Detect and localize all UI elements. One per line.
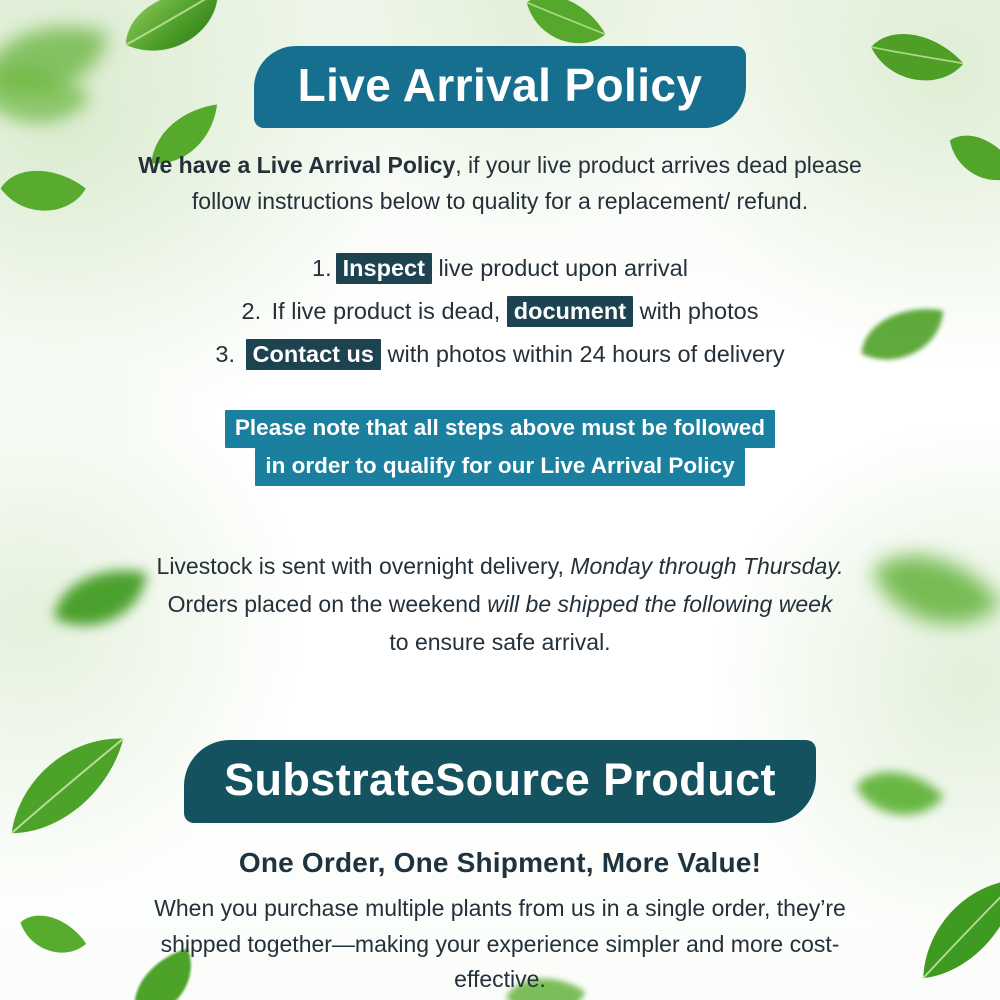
policy-steps-list: 1.Inspect live product upon arrival 2. I… [0, 247, 1000, 375]
step-highlight-inspect: Inspect [336, 253, 432, 284]
policy-intro-text: We have a Live Arrival Policy, if your l… [0, 148, 1000, 219]
policy-banner-row: Live Arrival Policy [0, 46, 1000, 128]
shipping-schedule-text: Livestock is sent with overnight deliver… [0, 548, 1000, 662]
step-number: 1. [312, 255, 332, 281]
step-highlight-document: document [507, 296, 633, 327]
step-text-before [239, 341, 246, 367]
step-text-after: live product upon arrival [432, 255, 688, 281]
shipping-line2-emphasis: will be shipped the following week [487, 591, 832, 617]
product-banner-row: SubstrateSource Product [0, 740, 1000, 823]
shipping-line1-emphasis: Monday through Thursday. [570, 553, 843, 579]
step-text-after: with photos [633, 298, 758, 324]
policy-note-line-2: in order to qualify for our Live Arrival… [255, 448, 744, 486]
content-root: Live Arrival Policy We have a Live Arriv… [0, 0, 1000, 1000]
step-text-before: If live product is dead, [265, 298, 507, 324]
shipping-line2-plain: Orders placed on the weekend [168, 591, 488, 617]
policy-step-3: 3. Contact us with photos within 24 hour… [0, 333, 1000, 376]
promo-infographic: Live Arrival Policy We have a Live Arriv… [0, 0, 1000, 1000]
substratesource-product-section: SubstrateSource Product One Order, One S… [0, 740, 1000, 998]
product-subheading: One Order, One Shipment, More Value! [0, 847, 1000, 879]
policy-note-block: Please note that all steps above must be… [0, 410, 1000, 487]
shipping-line1-plain: Livestock is sent with overnight deliver… [157, 553, 571, 579]
live-arrival-policy-banner: Live Arrival Policy [254, 46, 747, 128]
policy-note-line-1: Please note that all steps above must be… [225, 410, 775, 448]
shipping-line3: to ensure safe arrival. [389, 629, 610, 655]
step-text-after: with photos within 24 hours of delivery [381, 341, 785, 367]
substratesource-product-banner: SubstrateSource Product [184, 740, 816, 823]
step-number: 3. [215, 341, 235, 367]
product-description: When you purchase multiple plants from u… [0, 891, 1000, 998]
policy-intro-lead: We have a Live Arrival Policy [138, 152, 455, 178]
policy-step-1: 1.Inspect live product upon arrival [0, 247, 1000, 290]
live-arrival-policy-section: Live Arrival Policy We have a Live Arriv… [0, 0, 1000, 662]
step-highlight-contact-us[interactable]: Contact us [246, 339, 381, 370]
policy-step-2: 2. If live product is dead, document wit… [0, 290, 1000, 333]
step-number: 2. [242, 298, 262, 324]
